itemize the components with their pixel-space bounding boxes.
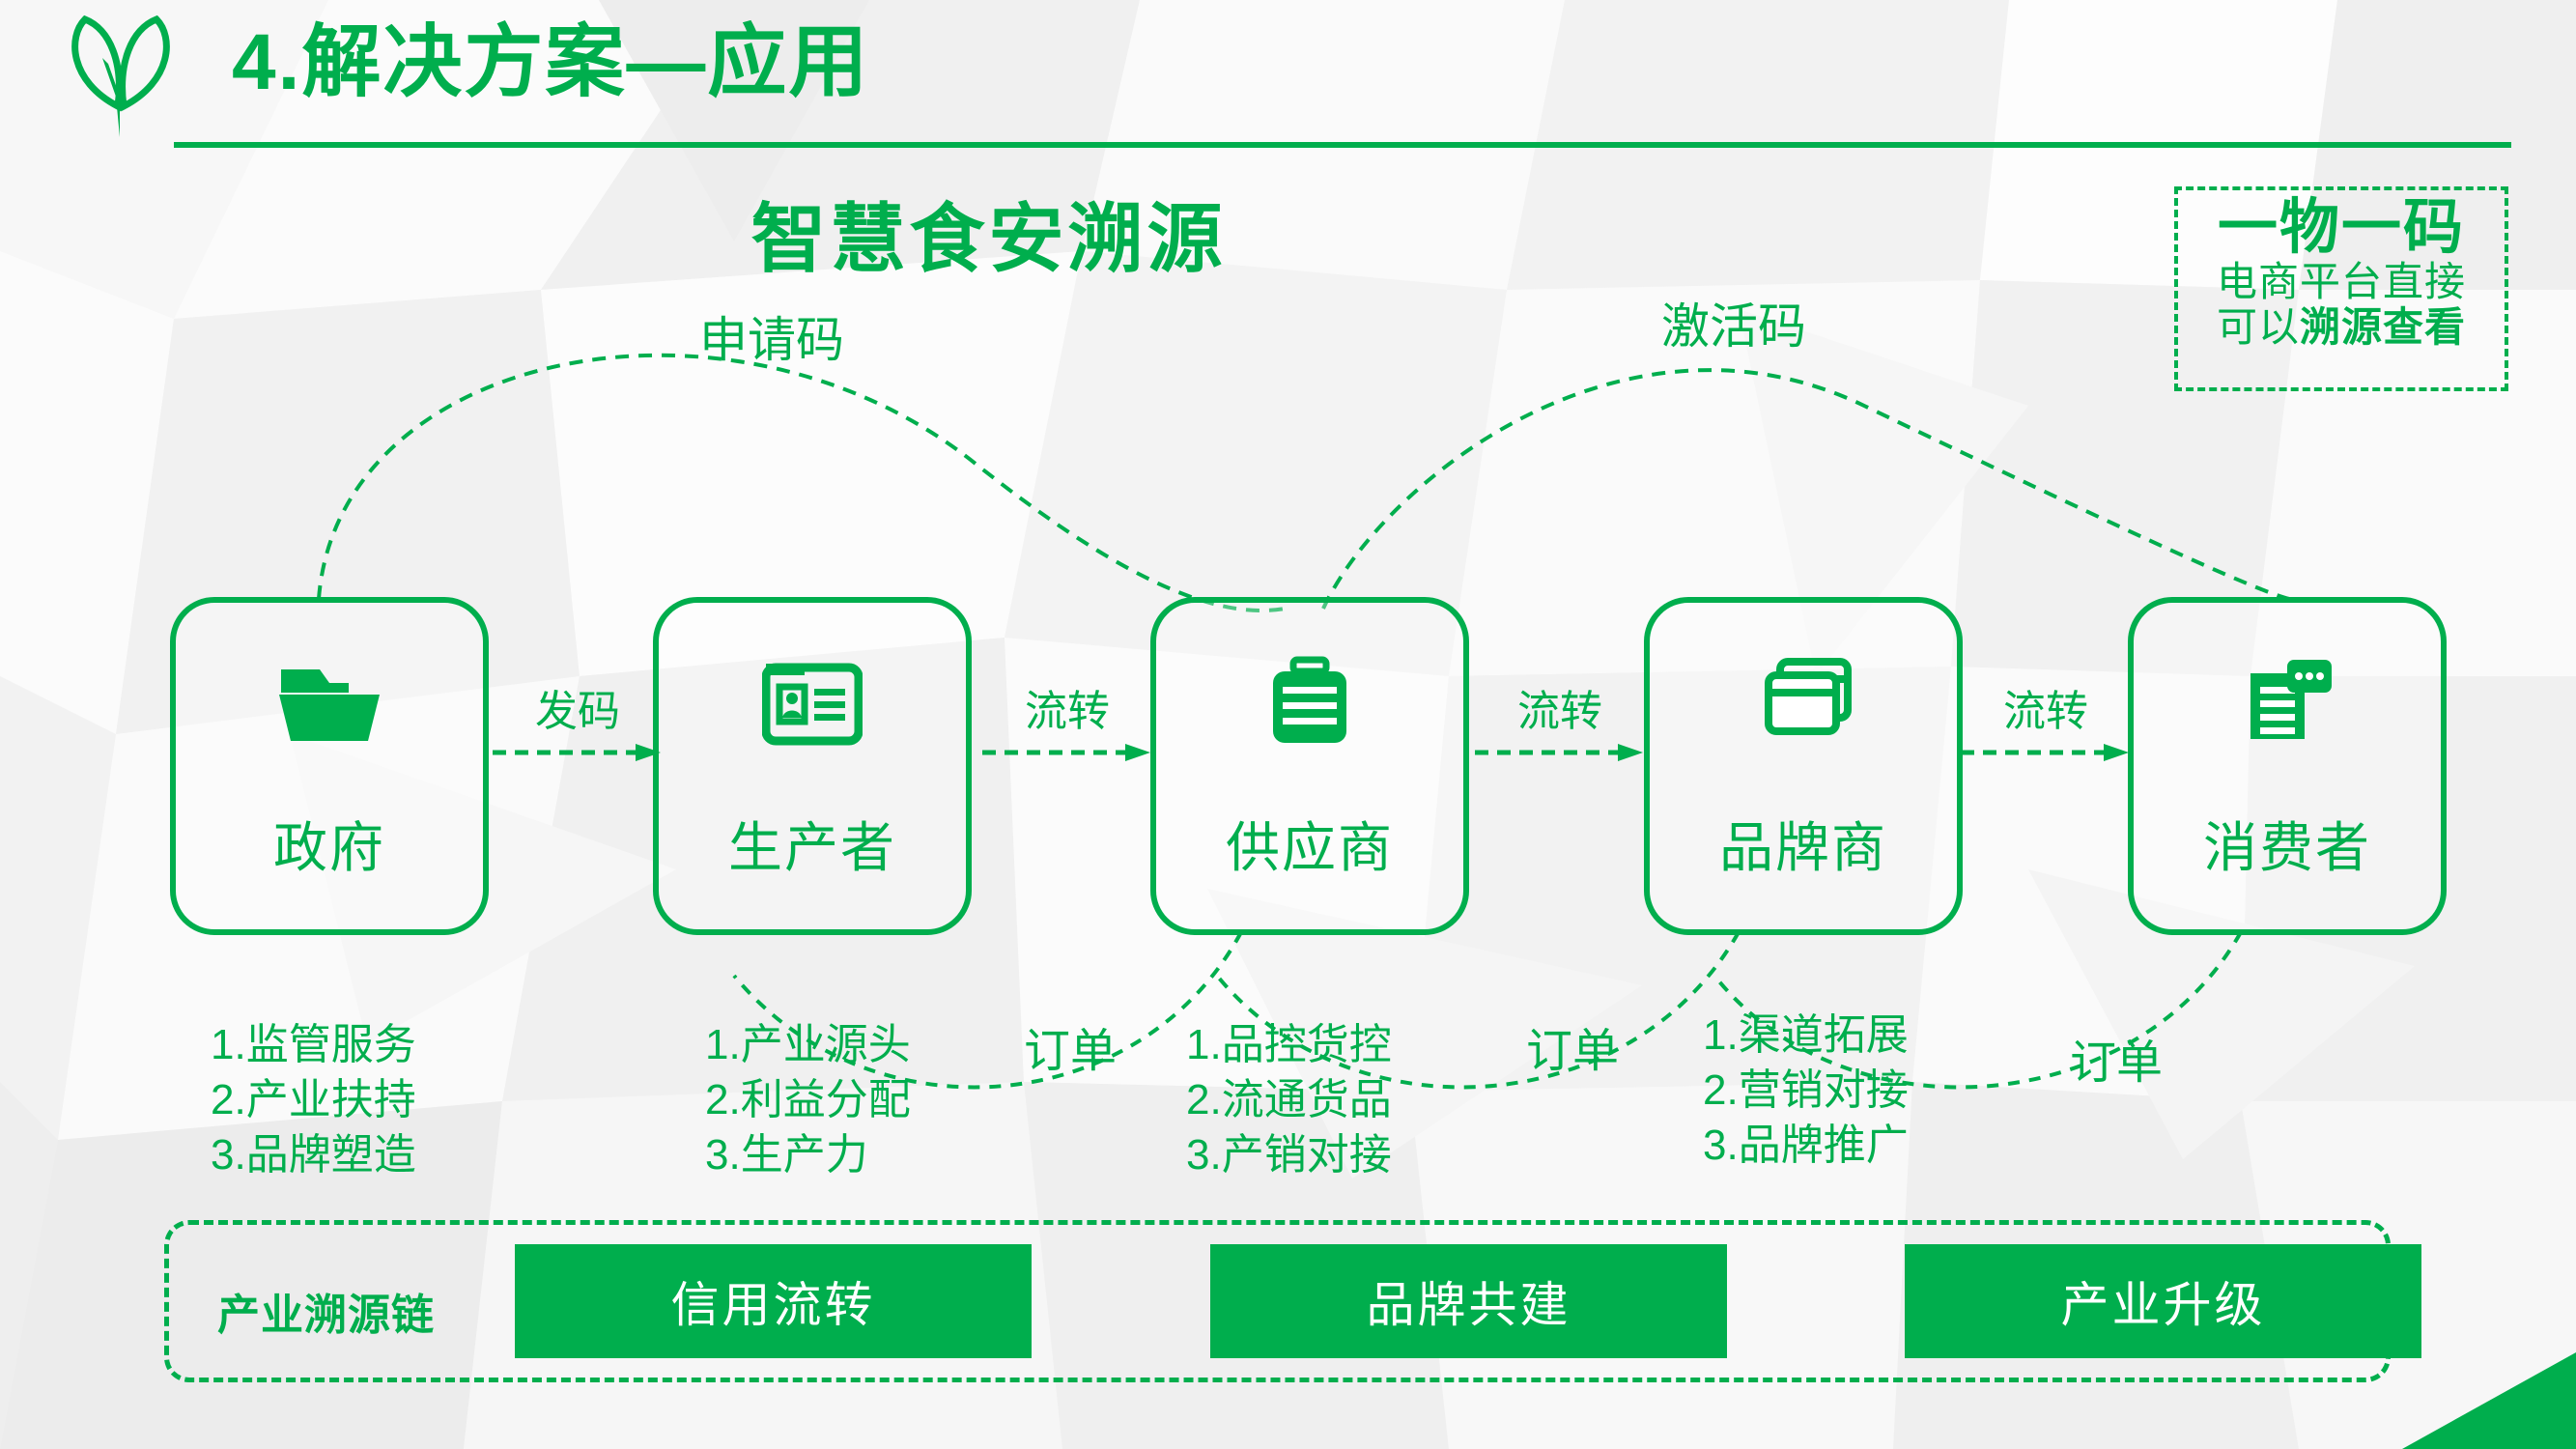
node-consumer[interactable]: 消费者: [2128, 597, 2447, 935]
node-supplier-label: 供应商: [1156, 805, 1463, 883]
document-comment-icon: [2134, 649, 2441, 755]
folder-icon: [176, 649, 483, 755]
callout-line-2: 可以溯源查看: [2217, 304, 2466, 350]
flow-arrow-issue-code: 发码: [491, 676, 665, 782]
flow-label-0: 发码: [491, 676, 665, 738]
arc-label-order-3: 订单: [2070, 1024, 2163, 1092]
list-item: 2.产业扶持: [211, 1072, 416, 1127]
dashed-arrow-icon: [1959, 742, 2133, 763]
node-consumer-label: 消费者: [2134, 805, 2441, 883]
node-supplier[interactable]: 供应商: [1150, 597, 1469, 935]
node-brand-owner-label: 品牌商: [1650, 805, 1957, 883]
leaf-logo-icon: [60, 14, 185, 144]
list-item: 1.品控货控: [1186, 1017, 1392, 1072]
pill-industry-upgrade[interactable]: 产业升级: [1905, 1244, 2421, 1358]
flow-label-2: 流转: [1473, 676, 1647, 738]
dashed-arrow-icon: [491, 742, 665, 763]
node-producer-label: 生产者: [659, 805, 966, 883]
id-card-icon: [659, 649, 966, 755]
flow-arrow-transfer-3: 流转: [1959, 676, 2133, 782]
arc-label-activate-code: 激活码: [1661, 288, 1806, 357]
flow-arrow-transfer-2: 流转: [1473, 676, 1647, 782]
diagram-title-text: 智慧食安溯源: [750, 179, 1226, 287]
pill-brand-cobuild[interactable]: 品牌共建: [1210, 1244, 1727, 1358]
list-item: 3.产销对接: [1186, 1127, 1392, 1182]
flow-label-3: 流转: [1959, 676, 2133, 738]
flow-label-1: 流转: [980, 676, 1154, 738]
dashed-arrow-icon: [980, 742, 1154, 763]
callout-line-1: 电商平台直接: [2217, 259, 2466, 304]
detail-list-supplier: 1.品控货控 2.流通货品 3.产销对接: [1186, 1017, 1392, 1183]
node-producer[interactable]: 生产者: [653, 597, 972, 935]
briefcase-icon: [1156, 649, 1463, 755]
node-brand-owner[interactable]: 品牌商: [1644, 597, 1963, 935]
stacked-windows-icon: [1650, 649, 1957, 755]
detail-list-government: 1.监管服务 2.产业扶持 3.品牌塑造: [211, 1017, 416, 1183]
callout-line-2-strong: 溯源查看: [2300, 304, 2466, 350]
corner-accent-triangle: [2364, 1352, 2576, 1449]
list-item: 1.产业源头: [705, 1017, 911, 1072]
page-title: 4.解决方案—应用: [232, 19, 869, 106]
list-item: 1.监管服务: [211, 1017, 416, 1072]
node-government[interactable]: 政府: [170, 597, 489, 935]
detail-list-brand-owner: 1.渠道拓展 2.营销对接 3.品牌推广: [1703, 1008, 1909, 1174]
header-divider: [174, 142, 2511, 148]
list-item: 2.利益分配: [705, 1072, 911, 1127]
arc-label-order-2: 订单: [1526, 1012, 1619, 1080]
callout-heading: 一物一码: [2218, 196, 2465, 259]
pill-credit-flow[interactable]: 信用流转: [515, 1244, 1032, 1358]
slide-canvas: 4.解决方案—应用 智慧食安溯源 一物一码 电商平台直接 可以溯源查看 申请码 …: [0, 0, 2576, 1449]
node-government-label: 政府: [176, 805, 483, 883]
slide-header: 4.解决方案—应用: [0, 0, 2576, 159]
list-item: 3.品牌推广: [1703, 1118, 1909, 1173]
list-item: 2.流通货品: [1186, 1072, 1392, 1127]
list-item: 3.品牌塑造: [211, 1127, 416, 1182]
list-item: 1.渠道拓展: [1703, 1008, 1909, 1063]
arc-label-order-1: 订单: [1024, 1012, 1117, 1080]
one-item-one-code-callout: 一物一码 电商平台直接 可以溯源查看: [2174, 186, 2508, 391]
list-item: 3.生产力: [705, 1127, 911, 1182]
chain-label: 产业溯源链: [217, 1280, 435, 1342]
flow-arrow-transfer-1: 流转: [980, 676, 1154, 782]
arc-label-apply-code: 申请码: [699, 301, 844, 371]
dashed-arrow-icon: [1473, 742, 1647, 763]
callout-line-2-prefix: 可以: [2217, 304, 2300, 350]
list-item: 2.营销对接: [1703, 1063, 1909, 1118]
detail-list-producer: 1.产业源头 2.利益分配 3.生产力: [705, 1017, 911, 1183]
